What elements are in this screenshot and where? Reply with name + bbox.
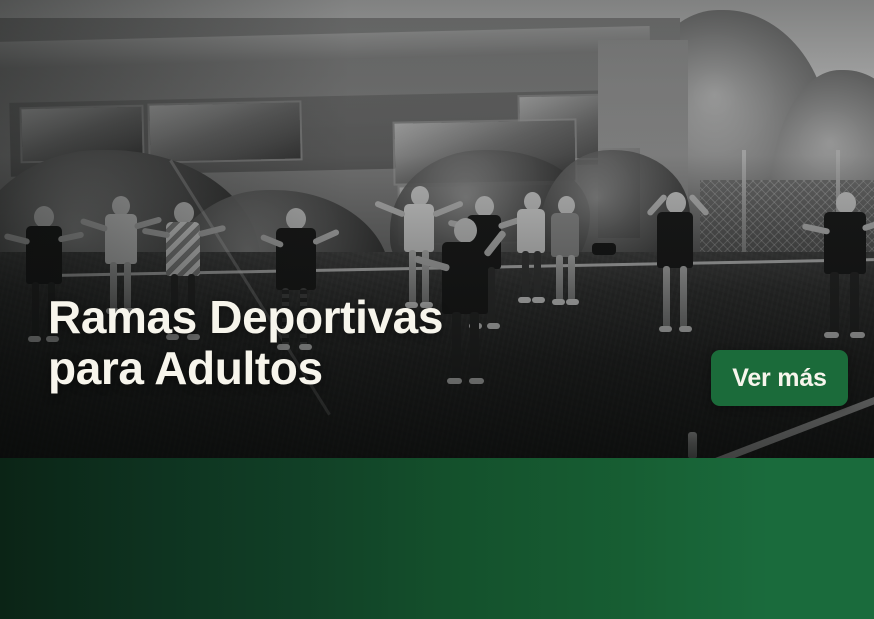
water-bottle — [688, 432, 697, 458]
building-window — [149, 102, 300, 161]
promo-card: Ramas Deportivas para Adultos Ver más Co… — [0, 0, 874, 619]
page-title: Ramas Deportivas para Adultos — [48, 292, 443, 394]
caption-band: Conoce las Ramas Deportivas para Adultos… — [0, 458, 874, 619]
ver-mas-button[interactable]: Ver más — [711, 350, 848, 406]
gym-bag — [592, 243, 616, 255]
